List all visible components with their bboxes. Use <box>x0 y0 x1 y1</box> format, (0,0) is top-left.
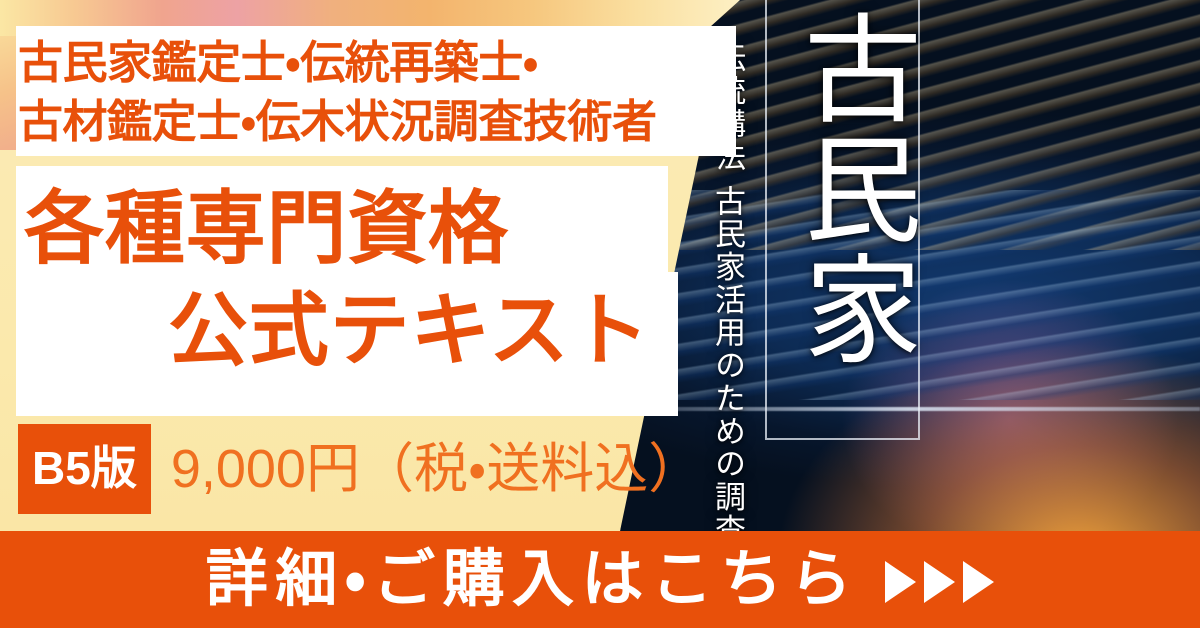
format-badge: B5版 <box>18 424 151 514</box>
heading-line-2: 古材鑑定士・伝木状況調査技術者 <box>18 93 734 152</box>
cta-button[interactable]: 詳細・ご購入はこちら <box>0 531 1200 628</box>
cta-label: 詳細・ご購入はこちら <box>206 549 859 611</box>
title-line-2: 公式テキスト <box>18 280 678 382</box>
title-line-1: 各種専門資格 <box>18 178 678 280</box>
qualification-heading: 古民家鑑定士・伝統再築士・ 古材鑑定士・伝木状況調査技術者 <box>18 34 734 151</box>
triangle-right-icon <box>963 561 994 603</box>
triangle-right-icon <box>924 561 955 603</box>
heading-line-1: 古民家鑑定士・伝統再築士・ <box>18 34 734 93</box>
cta-arrows <box>885 561 994 603</box>
price-row: B5版 9,000円（税・送料込） <box>18 424 702 514</box>
price-text: 9,000円（税・送料込） <box>171 442 703 496</box>
promo-banner: 伝統構法 古民家活用のための調査と再生の 古民家 古民家鑑定士・伝統再築士・ 古… <box>0 0 1200 628</box>
triangle-right-icon <box>885 561 916 603</box>
cover-title-text: 古民家 <box>790 8 910 369</box>
page-title: 各種専門資格 公式テキスト <box>18 178 678 383</box>
